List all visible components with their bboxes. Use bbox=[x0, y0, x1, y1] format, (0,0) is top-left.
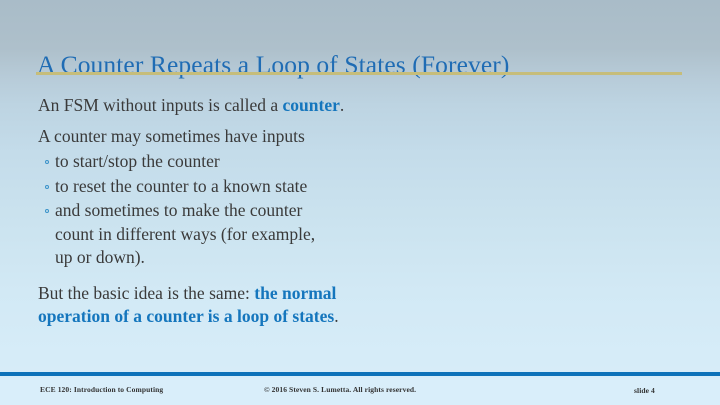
footer-copyright-label: © 2016 Steven S. Lumetta. All rights res… bbox=[264, 385, 416, 394]
closing-line-2: operation of a counter is a loop of stat… bbox=[38, 305, 678, 329]
slide-body: An FSM without inputs is called a counte… bbox=[38, 94, 678, 346]
closing-line-1: But the basic idea is the same: the norm… bbox=[38, 282, 678, 306]
bullet-list: to start/stop the counter to reset the c… bbox=[38, 150, 678, 270]
slide: A Counter Repeats a Loop of States (Fore… bbox=[0, 0, 720, 405]
paragraph-fsm-lead: An FSM without inputs is called a bbox=[38, 95, 283, 115]
paragraph-fsm-emphasis: counter bbox=[283, 95, 340, 115]
closing-lead: But the basic idea is the same: bbox=[38, 283, 254, 303]
footer-course-label: ECE 120: Introduction to Computing bbox=[40, 385, 163, 394]
list-item: and sometimes to make the counter count … bbox=[38, 199, 678, 270]
paragraph-closing: But the basic idea is the same: the norm… bbox=[38, 282, 678, 329]
list-item-line: up or down). bbox=[55, 246, 678, 270]
paragraph-fsm-tail: . bbox=[340, 95, 344, 115]
page-title: A Counter Repeats a Loop of States (Fore… bbox=[37, 50, 510, 80]
list-item-line: to start/stop the counter bbox=[55, 151, 220, 171]
list-item-line: to reset the counter to a known state bbox=[55, 176, 307, 196]
list-item: to start/stop the counter bbox=[38, 150, 678, 174]
list-item-line: count in different ways (for example, bbox=[55, 223, 678, 247]
footer-slide-number: slide 4 bbox=[634, 386, 655, 395]
hollow-circle-bullet-icon bbox=[45, 185, 49, 189]
paragraph-fsm-definition: An FSM without inputs is called a counte… bbox=[38, 94, 678, 118]
title-divider bbox=[36, 72, 682, 75]
hollow-circle-bullet-icon bbox=[45, 160, 49, 164]
hollow-circle-bullet-icon bbox=[45, 209, 49, 213]
list-item: to reset the counter to a known state bbox=[38, 175, 678, 199]
closing-emphasis-2: operation of a counter is a loop of stat… bbox=[38, 306, 334, 326]
closing-tail: . bbox=[334, 306, 338, 326]
footer-accent-bar bbox=[0, 372, 720, 376]
list-item-line: and sometimes to make the counter bbox=[55, 199, 678, 223]
paragraph-counter-inputs: A counter may sometimes have inputs bbox=[38, 125, 678, 149]
closing-emphasis-1: the normal bbox=[254, 283, 336, 303]
slide-footer: ECE 120: Introduction to Computing © 201… bbox=[0, 378, 720, 405]
